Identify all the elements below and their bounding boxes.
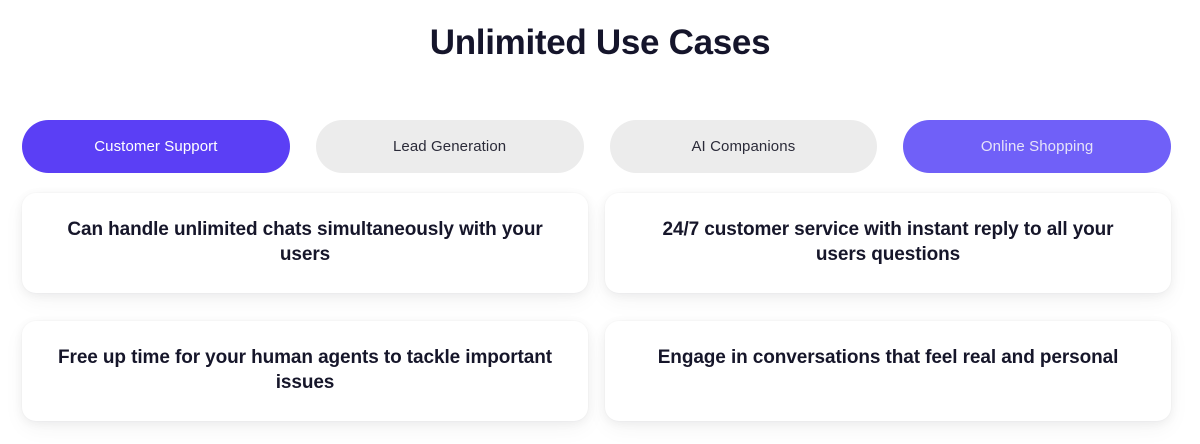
page-title: Unlimited Use Cases <box>0 16 1200 70</box>
use-case-tab-list: Customer Support Lead Generation AI Comp… <box>22 120 1171 173</box>
feature-card-text: Engage in conversations that feel real a… <box>635 345 1141 370</box>
tab-ai-companions[interactable]: AI Companions <box>610 120 878 173</box>
feature-card: 24/7 customer service with instant reply… <box>605 193 1171 293</box>
feature-card-text: Free up time for your human agents to ta… <box>52 345 558 395</box>
feature-card: Free up time for your human agents to ta… <box>22 321 588 421</box>
use-case-feature-grid: Can handle unlimited chats simultaneousl… <box>22 193 1171 421</box>
feature-card: Can handle unlimited chats simultaneousl… <box>22 193 588 293</box>
unlimited-use-cases-section: Unlimited Use Cases Customer Support Lea… <box>0 0 1200 444</box>
tab-online-shopping[interactable]: Online Shopping <box>903 120 1171 173</box>
feature-card-text: 24/7 customer service with instant reply… <box>635 217 1141 267</box>
feature-card-text: Can handle unlimited chats simultaneousl… <box>52 217 558 267</box>
feature-card: Engage in conversations that feel real a… <box>605 321 1171 421</box>
tab-lead-generation[interactable]: Lead Generation <box>316 120 584 173</box>
tab-customer-support[interactable]: Customer Support <box>22 120 290 173</box>
